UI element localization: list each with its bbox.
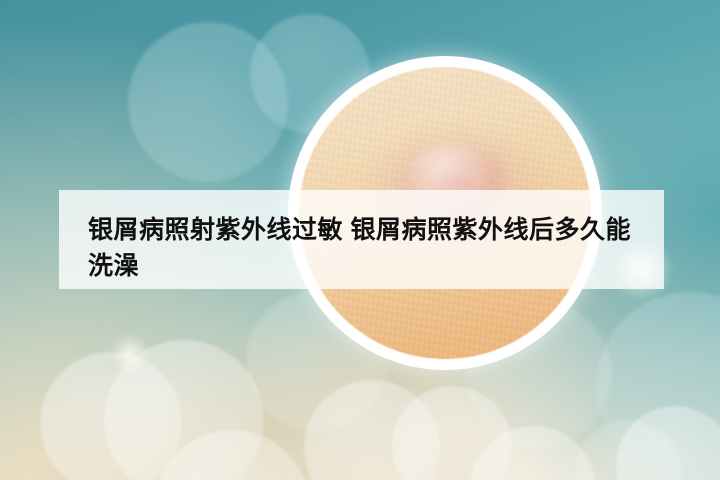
cover-image-canvas: 银屑病照射紫外线过敏 银屑病照紫外线后多久能洗澡	[0, 0, 720, 480]
page-title: 银屑病照射紫外线过敏 银屑病照紫外线后多久能洗澡	[88, 212, 648, 284]
